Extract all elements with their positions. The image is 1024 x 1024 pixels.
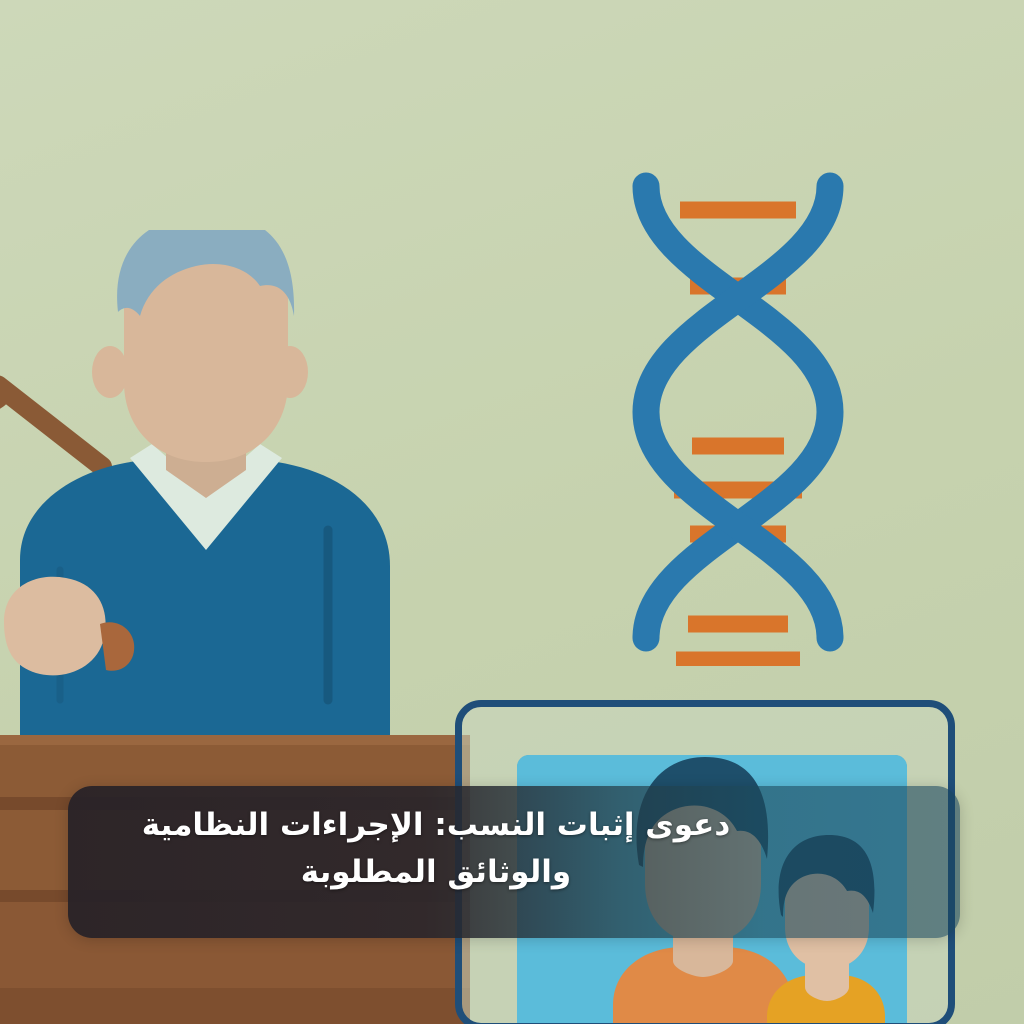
bench-foot	[0, 988, 470, 1024]
page-title: دعوى إثبات النسب: الإجراءات النظامية وال…	[86, 802, 786, 896]
judge-figure	[0, 230, 480, 760]
illustration-canvas: دعوى إثبات النسب: الإجراءات النظامية وال…	[0, 0, 1024, 1024]
title-line-2: والوثائق المطلوبة	[86, 849, 786, 896]
title-banner: دعوى إثبات النسب: الإجراءات النظامية وال…	[68, 786, 960, 938]
dna-helix-icon	[612, 158, 864, 666]
bench-top-edge	[0, 735, 470, 745]
title-line-1: دعوى إثبات النسب: الإجراءات النظامية	[86, 802, 786, 849]
